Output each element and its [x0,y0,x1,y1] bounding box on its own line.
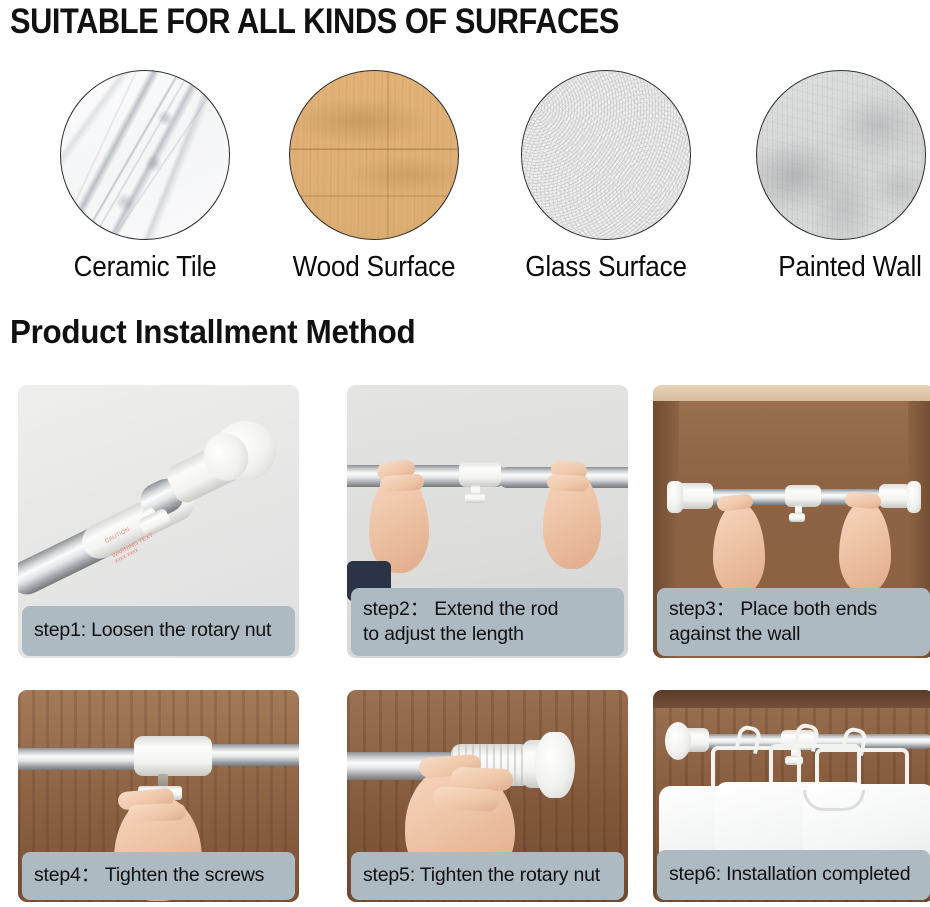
step-caption: step1: Loosen the rotary nut [22,606,295,656]
step-photo-extend-rod: step2： Extend the rod to adjust the leng… [347,385,628,658]
step-photo-installation-completed: step6: Installation completed [653,690,930,902]
step-card: CAUTION WARNING TEXT xxxx xxxx step1: Lo… [18,385,299,658]
installation-steps-grid: CAUTION WARNING TEXT xxxx xxxx step1: Lo… [0,0,930,907]
step-caption: step4： Tighten the screws [22,852,295,900]
step-card: step4： Tighten the screws [18,690,299,902]
step-card: step2： Extend the rod to adjust the leng… [347,385,628,658]
step-caption: step3： Place both ends against the wall [657,588,930,656]
step-card: step3： Place both ends against the wall [653,385,930,658]
step-caption: step6: Installation completed [657,850,930,900]
step-photo-tighten-rotary-nut: step5: Tighten the rotary nut [347,690,628,902]
step-photo-tighten-screws: step4： Tighten the screws [18,690,299,902]
step-photo-place-ends: step3： Place both ends against the wall [653,385,930,658]
step-photo-loosen-nut: CAUTION WARNING TEXT xxxx xxxx step1: Lo… [18,385,299,658]
step-caption: step2： Extend the rod to adjust the leng… [351,588,624,656]
step-caption: step5: Tighten the rotary nut [351,852,624,900]
step-card: step5: Tighten the rotary nut [347,690,628,902]
step-card: step6: Installation completed [653,690,930,902]
